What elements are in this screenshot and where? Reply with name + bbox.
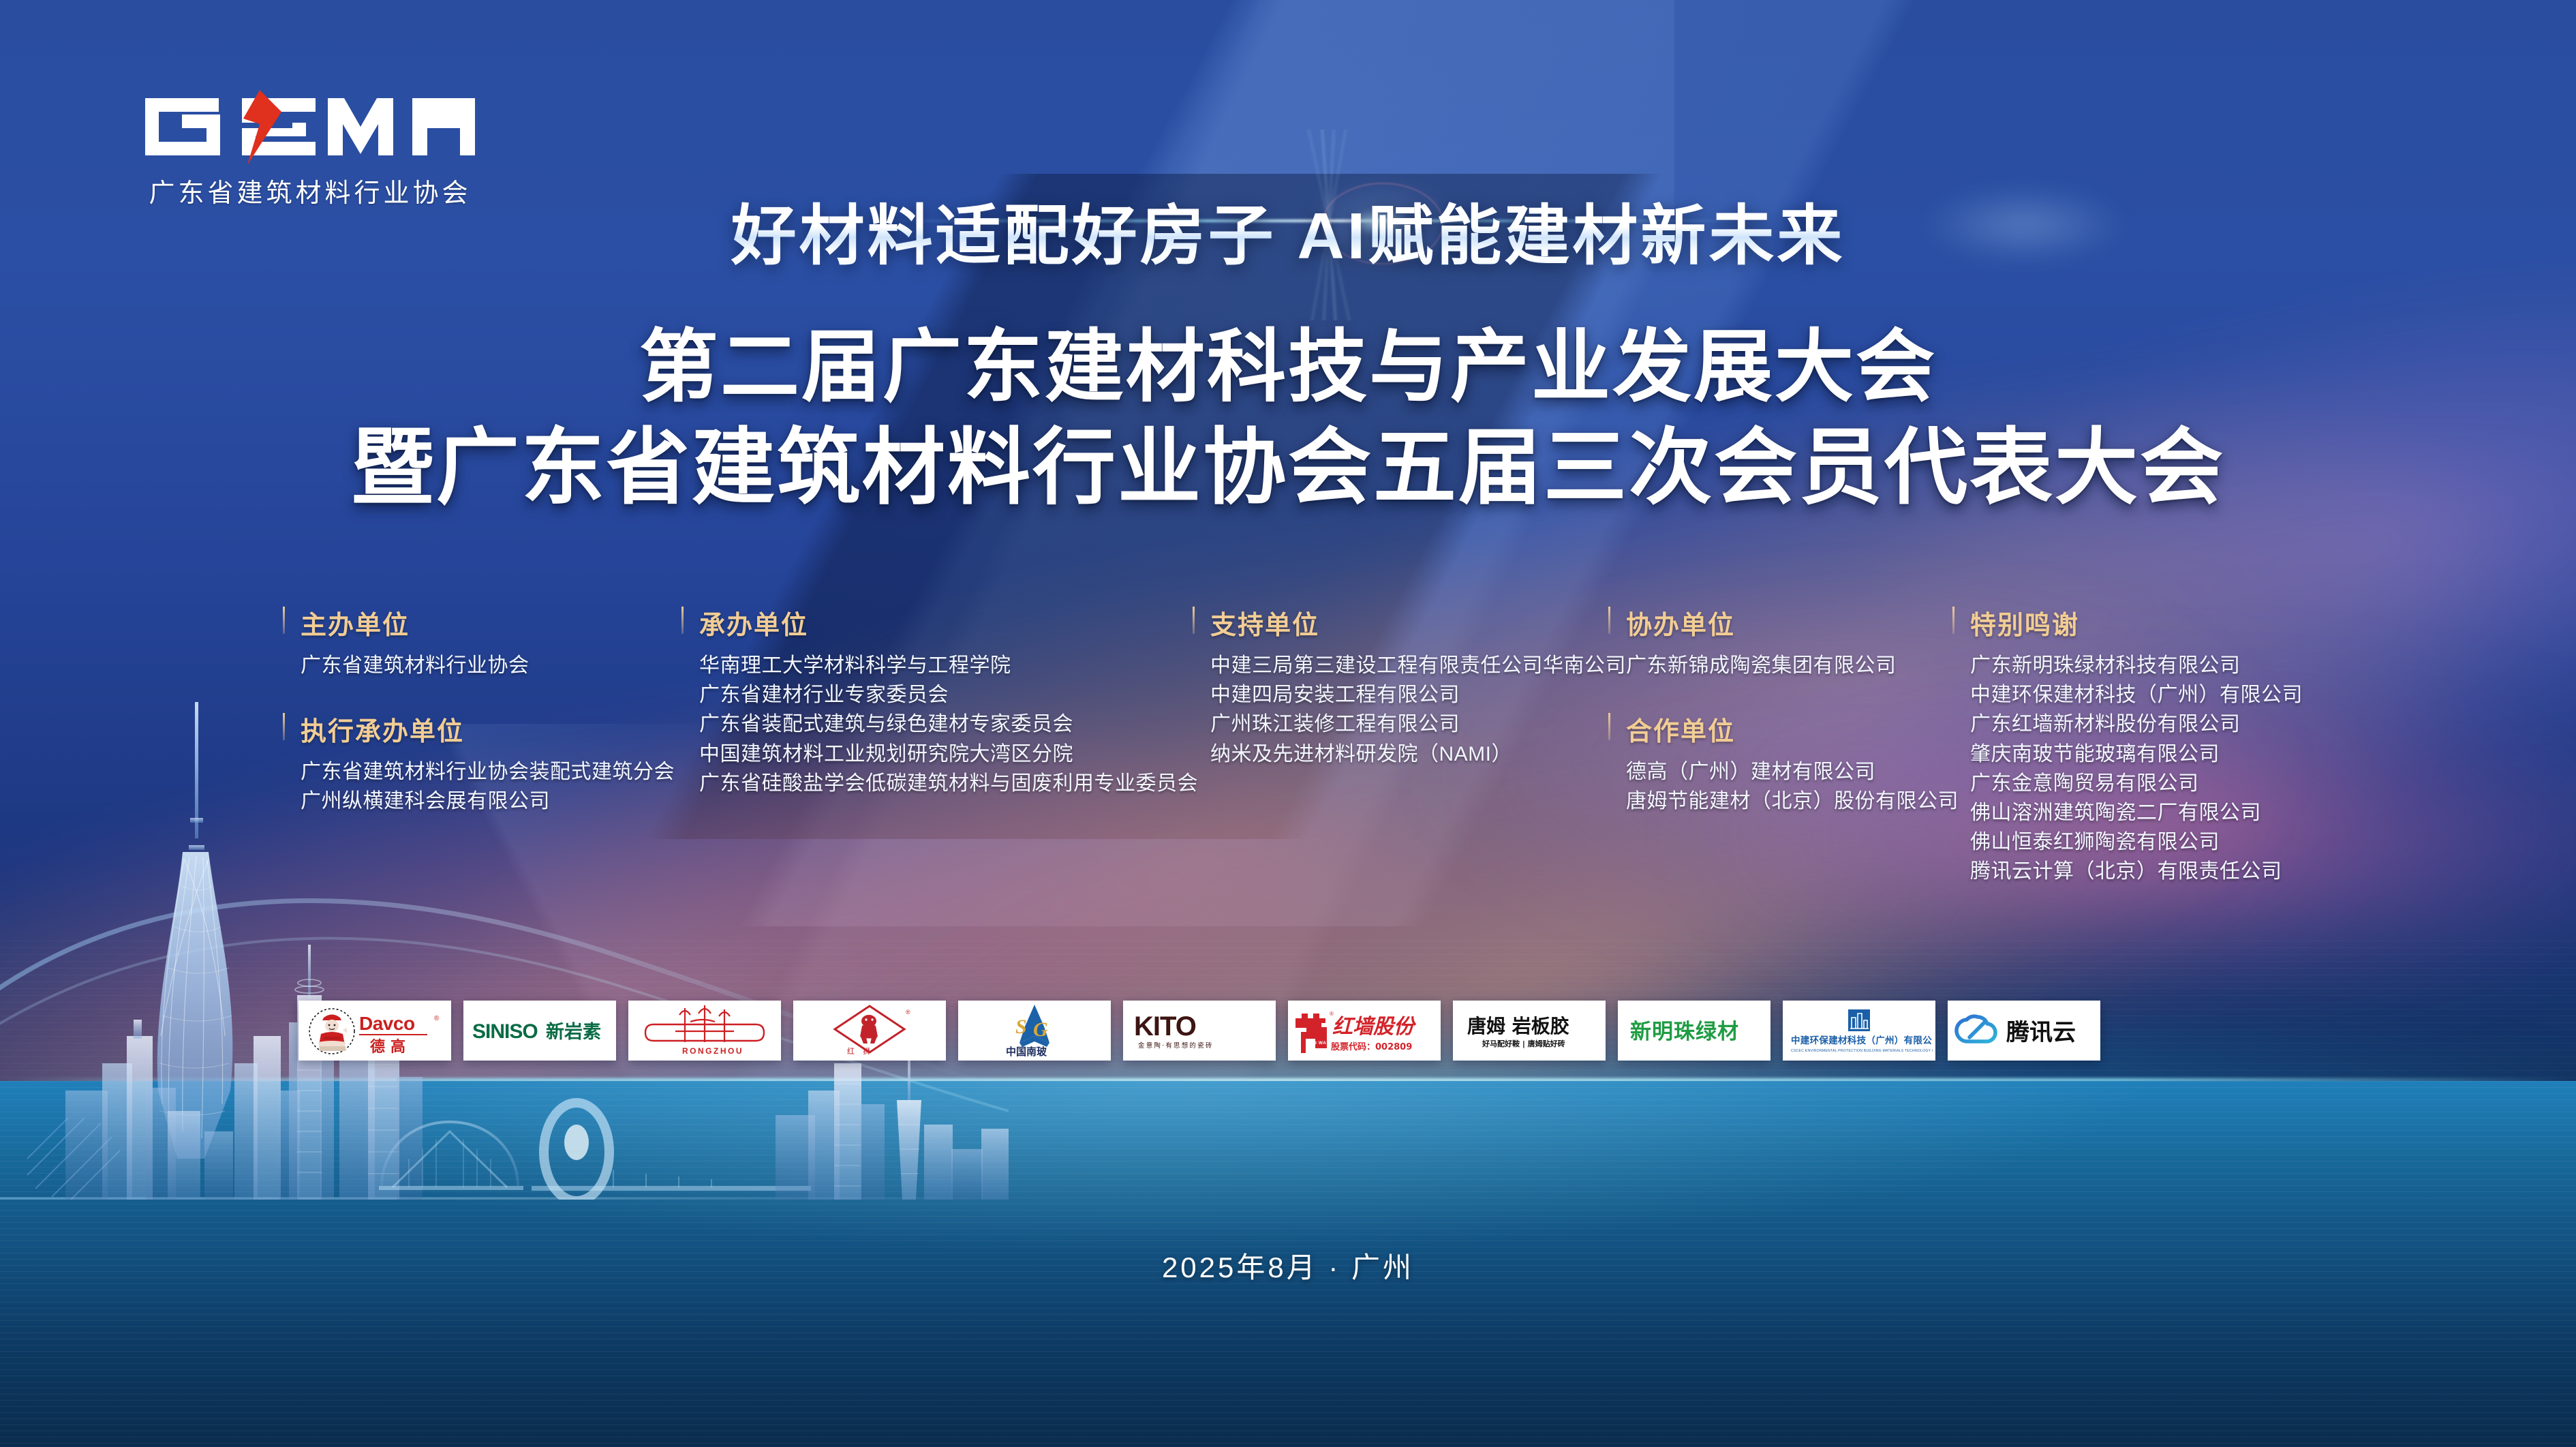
org-column-2: 承办单位 华南理工大学材料科学与工程学院 广东省建材行业专家委员会 广东省装配式…: [681, 604, 1179, 828]
org-item: 广东省装配式建筑与绿色建材专家委员会: [699, 710, 1179, 739]
svg-text:金意陶·有思想的瓷砖: 金意陶·有思想的瓷砖: [1138, 1041, 1214, 1050]
conference-backdrop: 广东省建筑材料行业协会 好材料适配好房子 AI赋能建材新未来 第二届广东建材科技…: [0, 0, 2576, 1447]
org-item: 广州珠江装修工程有限公司: [1210, 710, 1608, 739]
svg-text:®: ®: [434, 1015, 440, 1022]
org-items: 德高（广州）建材有限公司 唐姆节能建材（北京）股份有限公司: [1608, 757, 1949, 816]
org-items: 广东省建筑材料行业协会: [283, 651, 664, 680]
svg-text:股票代码：002809: 股票代码：002809: [1331, 1041, 1412, 1052]
org-item: 肇庆南玻节能玻璃有限公司: [1970, 740, 2307, 769]
org-items: 广东新锦成陶瓷集团有限公司: [1608, 651, 1949, 680]
org-item: 广东新明珠绿材科技有限公司: [1970, 651, 2307, 680]
org-column-5: 特别鸣谢 广东新明珠绿材科技有限公司 中建环保建材科技（广州）有限公司 广东红墙…: [1952, 604, 2307, 917]
svg-text:S: S: [1015, 1016, 1027, 1038]
svg-text:红墙股份: 红墙股份: [1332, 1016, 1417, 1038]
svg-text:好马配好鞍 | 唐姆贴好砖: 好马配好鞍 | 唐姆贴好砖: [1482, 1039, 1565, 1048]
tagline-text: 好材料适配好房子 AI赋能建材新未来: [731, 183, 1845, 277]
org-item: 中建三局第三建设工程有限责任公司华南公司: [1210, 651, 1608, 680]
svg-text:®: ®: [906, 1009, 910, 1016]
org-item: 中国建筑材料工业规划研究院大湾区分院: [699, 740, 1179, 769]
org-item: 纳米及先进材料研发院（NAMI）: [1210, 740, 1608, 769]
org-column-4: 协办单位 广东新锦成陶瓷集团有限公司 合作单位 德高（广州）建材有限公司 唐姆节…: [1608, 604, 1949, 847]
org-item: 腾讯云计算（北京）有限责任公司: [1970, 857, 2307, 886]
org-block-acknowledgement: 特别鸣谢 广东新明珠绿材科技有限公司 中建环保建材科技（广州）有限公司 广东红墙…: [1952, 604, 2307, 887]
org-item: 广东金意陶贸易有限公司: [1970, 769, 2307, 798]
event-tagline: 好材料适配好房子 AI赋能建材新未来: [0, 183, 2576, 277]
sponsor-logo-strip: Davco ® 德高 SINISO 新岩素: [298, 1001, 2100, 1061]
tangmu-logo: 唐姆 岩板胶 好马配好鞍 | 唐姆贴好砖: [1453, 1001, 1606, 1061]
gbma-wordmark: [140, 89, 480, 165]
org-heading: 特别鸣谢: [1952, 604, 2307, 641]
title-line-2: 暨广东省建筑材料行业协会五届三次会员代表大会: [0, 418, 2576, 517]
org-heading: 协办单位: [1608, 604, 1949, 641]
org-column-1: 主办单位 广东省建筑材料行业协会 执行承办单位 广东省建筑材料行业协会装配式建筑…: [283, 604, 664, 847]
org-items: 华南理工大学材料科学与工程学院 广东省建材行业专家委员会 广东省装配式建筑与绿色…: [681, 651, 1179, 798]
org-block-partner: 合作单位 德高（广州）建材有限公司 唐姆节能建材（北京）股份有限公司: [1608, 710, 1949, 816]
event-date-location: 2025年8月 · 广州: [0, 1245, 2576, 1286]
org-item: 广州纵横建科会展有限公司: [301, 787, 664, 816]
cscec-env-logo: 中建环保建材科技（广州）有限公司 CSCEC ENVIRONMENTAL PRO…: [1783, 1001, 1935, 1061]
org-item: 唐姆节能建材（北京）股份有限公司: [1626, 787, 1949, 816]
csg-nanbo-logo: S G 中国南玻: [958, 1001, 1111, 1061]
org-item: 广东红墙新材料股份有限公司: [1970, 710, 2307, 739]
tencent-cloud-logo: 腾讯云: [1948, 1001, 2100, 1061]
svg-text:中建环保建材科技（广州）有限公司: 中建环保建材科技（广州）有限公司: [1791, 1035, 1933, 1046]
svg-text:CSCEC ENVIRONMENTAL PROTECTION: CSCEC ENVIRONMENTAL PROTECTION BUILDING …: [1791, 1049, 1933, 1053]
hongshi-logo: ® 红狮: [793, 1001, 946, 1061]
svg-text:新明珠绿材: 新明珠绿材: [1630, 1020, 1739, 1044]
org-item: 佛山恒泰红狮陶瓷有限公司: [1970, 827, 2307, 857]
redwall-logo: RED WALL ® 红墙股份 股票代码：002809: [1288, 1001, 1441, 1061]
org-heading: 支持单位: [1193, 604, 1608, 641]
kito-logo: KITO 金意陶·有思想的瓷砖: [1123, 1001, 1276, 1061]
org-column-3: 支持单位 中建三局第三建设工程有限责任公司华南公司 中建四局安装工程有限公司 广…: [1193, 604, 1608, 799]
org-item: 广东省建筑材料行业协会装配式建筑分会: [301, 757, 664, 787]
org-item: 广东省硅酸盐学会低碳建筑材料与固废利用专业委员会: [699, 769, 1179, 798]
org-item: 中建四局安装工程有限公司: [1210, 680, 1608, 710]
svg-text:RED WALL: RED WALL: [1306, 1041, 1333, 1046]
org-item: 华南理工大学材料科学与工程学院: [699, 651, 1179, 680]
svg-text:RONGZHOU: RONGZHOU: [682, 1046, 743, 1056]
org-heading: 主办单位: [283, 604, 664, 641]
org-item: 佛山溶洲建筑陶瓷二厂有限公司: [1970, 798, 2307, 827]
rongzhou-logo: RONGZHOU: [628, 1001, 781, 1061]
title-line-1: 第二届广东建材科技与产业发展大会: [0, 320, 2576, 414]
svg-text:德高: 德高: [370, 1038, 411, 1056]
svg-text:KITO: KITO: [1134, 1011, 1196, 1041]
svg-text:Davco: Davco: [359, 1013, 415, 1034]
svg-text:G: G: [1033, 1018, 1048, 1041]
org-items: 广东省建筑材料行业协会装配式建筑分会 广州纵横建科会展有限公司: [283, 757, 664, 816]
svg-text:新岩素: 新岩素: [546, 1021, 601, 1043]
svg-text:腾讯云: 腾讯云: [2006, 1019, 2076, 1046]
svg-text:唐姆 岩板胶: 唐姆 岩板胶: [1467, 1015, 1569, 1037]
organizations-panel: 主办单位 广东省建筑材料行业协会 执行承办单位 广东省建筑材料行业协会装配式建筑…: [0, 604, 2576, 897]
org-item: 中建环保建材科技（广州）有限公司: [1970, 680, 2307, 710]
org-block-coorganizer: 协办单位 广东新锦成陶瓷集团有限公司: [1608, 604, 1949, 680]
xinmingzhu-logo: 新明珠绿材: [1618, 1001, 1770, 1061]
svg-text:中国南玻: 中国南玻: [1006, 1046, 1047, 1058]
page-title: 第二届广东建材科技与产业发展大会 暨广东省建筑材料行业协会五届三次会员代表大会: [0, 320, 2576, 517]
svg-text:SINISO: SINISO: [472, 1020, 538, 1043]
org-block-host: 主办单位 广东省建筑材料行业协会: [283, 604, 664, 680]
org-item: 广东省建材行业专家委员会: [699, 680, 1179, 710]
org-item: 广东省建筑材料行业协会: [301, 651, 664, 680]
org-heading: 合作单位: [1608, 710, 1949, 748]
org-item: 广东新锦成陶瓷集团有限公司: [1626, 651, 1949, 680]
org-items: 中建三局第三建设工程有限责任公司华南公司 中建四局安装工程有限公司 广州珠江装修…: [1193, 651, 1608, 769]
org-block-exec-organizer: 执行承办单位 广东省建筑材料行业协会装配式建筑分会 广州纵横建科会展有限公司: [283, 710, 664, 816]
svg-text:红狮: 红狮: [847, 1047, 878, 1056]
org-heading: 承办单位: [681, 604, 1179, 641]
org-block-organizer: 承办单位 华南理工大学材料科学与工程学院 广东省建材行业专家委员会 广东省装配式…: [681, 604, 1179, 798]
davco-logo: Davco ® 德高: [298, 1001, 451, 1061]
org-block-supporter: 支持单位 中建三局第三建设工程有限责任公司华南公司 中建四局安装工程有限公司 广…: [1193, 604, 1608, 769]
org-heading: 执行承办单位: [283, 710, 664, 748]
org-item: 德高（广州）建材有限公司: [1626, 757, 1949, 787]
siniso-logo: SINISO 新岩素: [463, 1001, 616, 1061]
org-items: 广东新明珠绿材科技有限公司 中建环保建材科技（广州）有限公司 广东红墙新材料股份…: [1952, 651, 2307, 887]
